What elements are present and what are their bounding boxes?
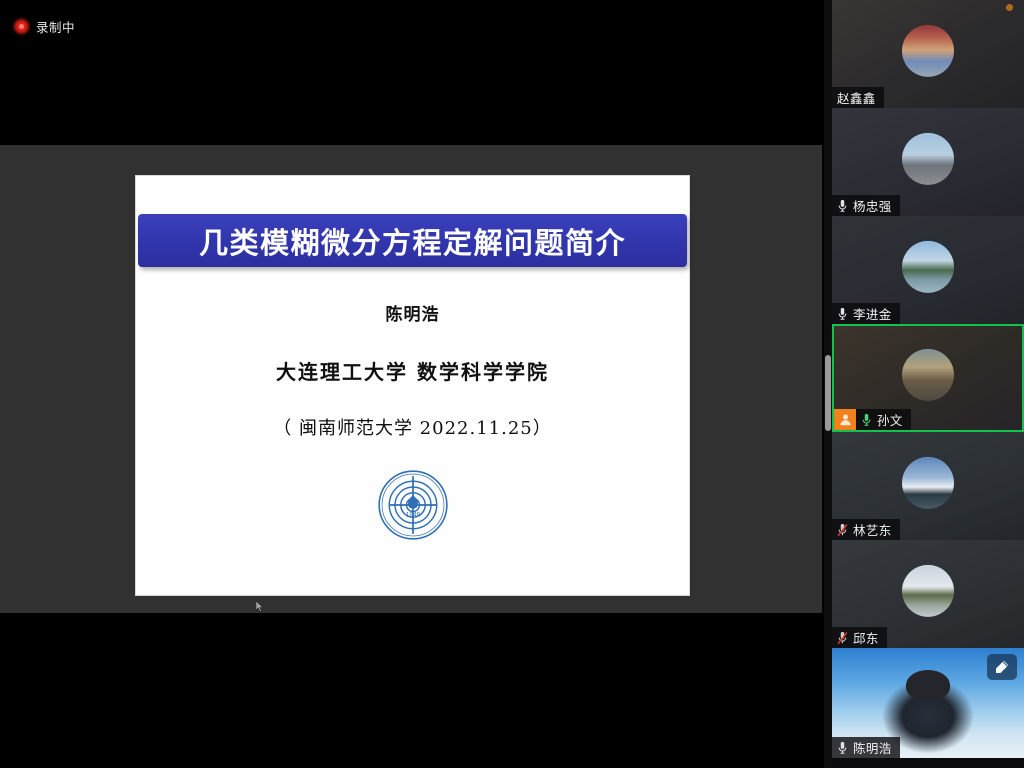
avatar bbox=[902, 241, 954, 293]
mic-muted-icon bbox=[837, 631, 848, 645]
participant-namebar: 赵鑫鑫 bbox=[832, 87, 884, 108]
slide-venue: （ 闽南师范大学 2022.11.25） bbox=[136, 414, 689, 440]
record-dot-icon bbox=[14, 19, 29, 34]
participant-name: 孙文 bbox=[877, 410, 903, 429]
participant-tile-active-speaker[interactable]: 孙文 bbox=[832, 324, 1024, 432]
participant-tile[interactable]: 杨忠强 bbox=[832, 108, 1024, 216]
pen-annotate-icon[interactable] bbox=[987, 654, 1017, 680]
participant-name: 赵鑫鑫 bbox=[837, 88, 876, 107]
participant-tile[interactable]: 林艺东 bbox=[832, 432, 1024, 540]
participant-namebar: 邱东 bbox=[832, 627, 887, 648]
svg-text:1949: 1949 bbox=[405, 512, 420, 519]
participant-namebar: 李进金 bbox=[832, 303, 900, 324]
mic-on-icon bbox=[837, 307, 848, 321]
mic-on-icon bbox=[837, 741, 848, 755]
avatar bbox=[902, 133, 954, 185]
participant-name: 陈明浩 bbox=[853, 738, 892, 757]
recording-indicator: 录制中 bbox=[14, 17, 75, 36]
participant-namebar: 孙文 bbox=[856, 409, 911, 430]
avatar bbox=[902, 349, 954, 401]
avatar bbox=[902, 565, 954, 617]
mouse-cursor bbox=[256, 601, 265, 613]
mic-on-icon bbox=[837, 199, 848, 213]
host-badge-icon bbox=[834, 409, 856, 430]
slide-title-banner: 几类模糊微分方程定解问题简介 bbox=[138, 214, 687, 267]
slide-affiliation: 大连理工大学 数学科学学院 bbox=[136, 356, 689, 385]
participant-tile-self-video[interactable]: 陈明浩 bbox=[832, 648, 1024, 758]
avatar bbox=[902, 25, 954, 77]
slide-title: 几类模糊微分方程定解问题简介 bbox=[199, 220, 626, 262]
participant-rail[interactable]: 赵鑫鑫 杨忠强 bbox=[832, 0, 1024, 768]
university-logo-icon: 1949 bbox=[377, 469, 449, 541]
mic-muted-icon bbox=[837, 523, 848, 537]
participant-namebar: 陈明浩 bbox=[832, 737, 900, 758]
avatar bbox=[902, 457, 954, 509]
participant-name: 林艺东 bbox=[853, 520, 892, 539]
participant-scrollbar[interactable] bbox=[825, 355, 831, 431]
participant-tile[interactable]: 赵鑫鑫 bbox=[832, 0, 1024, 108]
participant-namebar: 林艺东 bbox=[832, 519, 900, 540]
slide-author: 陈明浩 bbox=[136, 300, 689, 325]
participant-name: 邱东 bbox=[853, 628, 879, 647]
mic-speaking-icon bbox=[861, 413, 872, 427]
participant-tile[interactable]: 李进金 bbox=[832, 216, 1024, 324]
status-dot-icon bbox=[1006, 4, 1013, 11]
recording-label: 录制中 bbox=[36, 17, 75, 36]
participant-namebar: 杨忠强 bbox=[832, 195, 900, 216]
participant-tile[interactable]: 邱东 bbox=[832, 540, 1024, 648]
meeting-window: 录制中 几类模糊微分方程定解问题简介 陈明浩 大连理工大学 数学科学学院 （ 闽… bbox=[0, 0, 1024, 768]
presentation-slide: 几类模糊微分方程定解问题简介 陈明浩 大连理工大学 数学科学学院 （ 闽南师范大… bbox=[136, 176, 689, 595]
participant-name: 杨忠强 bbox=[853, 196, 892, 215]
screen-share-viewport[interactable]: 几类模糊微分方程定解问题简介 陈明浩 大连理工大学 数学科学学院 （ 闽南师范大… bbox=[0, 145, 822, 613]
participant-name: 李进金 bbox=[853, 304, 892, 323]
